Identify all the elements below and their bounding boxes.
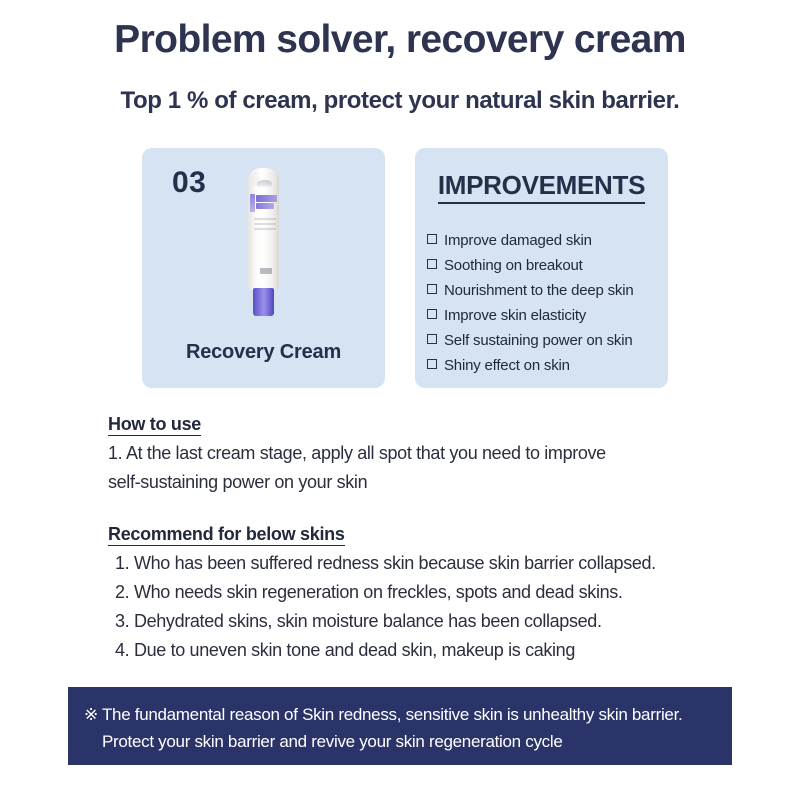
improvements-title-text: IMPROVEMENTS bbox=[438, 170, 645, 204]
list-item: Nourishment to the deep skin bbox=[427, 278, 668, 303]
improvements-title: IMPROVEMENTS bbox=[415, 170, 668, 201]
how-to-use-heading: How to use bbox=[108, 414, 728, 435]
list-item: Soothing on breakout bbox=[427, 253, 668, 278]
cream-tube-icon bbox=[248, 168, 279, 316]
improvement-label: Nourishment to the deep skin bbox=[444, 282, 634, 299]
improvement-label: Soothing on breakout bbox=[444, 257, 583, 274]
checkbox-icon bbox=[427, 234, 437, 244]
improvement-label: Improve damaged skin bbox=[444, 232, 592, 249]
list-item: Self sustaining power on skin bbox=[427, 328, 668, 353]
product-image bbox=[142, 158, 385, 328]
how-to-use-section: How to use 1. At the last cream stage, a… bbox=[108, 414, 728, 497]
tube-body bbox=[248, 168, 279, 290]
improvement-label: Self sustaining power on skin bbox=[444, 332, 632, 349]
improvements-card: IMPROVEMENTS Improve damaged skin Soothi… bbox=[415, 148, 668, 388]
checkbox-icon bbox=[427, 259, 437, 269]
list-item: Improve skin elasticity bbox=[427, 303, 668, 328]
recommend-section: Recommend for below skins 1. Who has bee… bbox=[108, 524, 748, 665]
checkbox-icon bbox=[427, 309, 437, 319]
improvement-label: Improve skin elasticity bbox=[444, 307, 586, 324]
tube-label-fine-print bbox=[254, 218, 276, 234]
tube-label-product-text bbox=[256, 203, 274, 209]
footer-banner: ※The fundamental reason of Skin redness,… bbox=[68, 687, 732, 765]
cards-row: 03 bbox=[142, 148, 668, 388]
recommend-item: 4. Due to uneven skin tone and dead skin… bbox=[108, 636, 748, 665]
tube-label bbox=[248, 194, 279, 214]
footer-line-1: ※The fundamental reason of Skin redness,… bbox=[84, 701, 716, 728]
footer-line-2: Protect your skin barrier and revive you… bbox=[84, 728, 716, 755]
checkbox-icon bbox=[427, 334, 437, 344]
tube-label-accent-bar bbox=[250, 194, 255, 212]
list-item: Improve damaged skin bbox=[427, 228, 668, 253]
product-name: Recovery Cream bbox=[142, 341, 385, 364]
how-to-use-line-1: 1. At the last cream stage, apply all sp… bbox=[108, 439, 728, 468]
tube-cap bbox=[253, 288, 274, 316]
recommend-item: 3. Dehydrated skins, skin moisture balan… bbox=[108, 607, 748, 636]
tube-brand-logo-icon bbox=[257, 180, 272, 187]
recommend-heading: Recommend for below skins bbox=[108, 524, 748, 545]
checkbox-icon bbox=[427, 359, 437, 369]
page-subtitle: Top 1 % of cream, protect your natural s… bbox=[0, 87, 800, 115]
product-card: 03 bbox=[142, 148, 385, 388]
improvement-label: Shiny effect on skin bbox=[444, 357, 570, 374]
recommend-heading-text: Recommend for below skins bbox=[108, 524, 345, 546]
recommend-item: 1. Who has been suffered redness skin be… bbox=[108, 549, 748, 578]
improvements-list: Improve damaged skin Soothing on breakou… bbox=[427, 228, 668, 378]
recommend-item: 2. Who needs skin regeneration on freckl… bbox=[108, 578, 748, 607]
footer-text-1: The fundamental reason of Skin redness, … bbox=[102, 705, 682, 724]
reference-mark-icon: ※ bbox=[84, 705, 98, 724]
tube-label-brand-text bbox=[256, 195, 277, 202]
page-title: Problem solver, recovery cream bbox=[0, 18, 800, 62]
checkbox-icon bbox=[427, 284, 437, 294]
how-to-use-heading-text: How to use bbox=[108, 414, 201, 436]
tube-volume-text bbox=[260, 268, 272, 274]
how-to-use-line-2: self-sustaining power on your skin bbox=[108, 468, 728, 497]
list-item: Shiny effect on skin bbox=[427, 353, 668, 378]
product-info-page: Problem solver, recovery cream Top 1 % o… bbox=[0, 0, 800, 800]
